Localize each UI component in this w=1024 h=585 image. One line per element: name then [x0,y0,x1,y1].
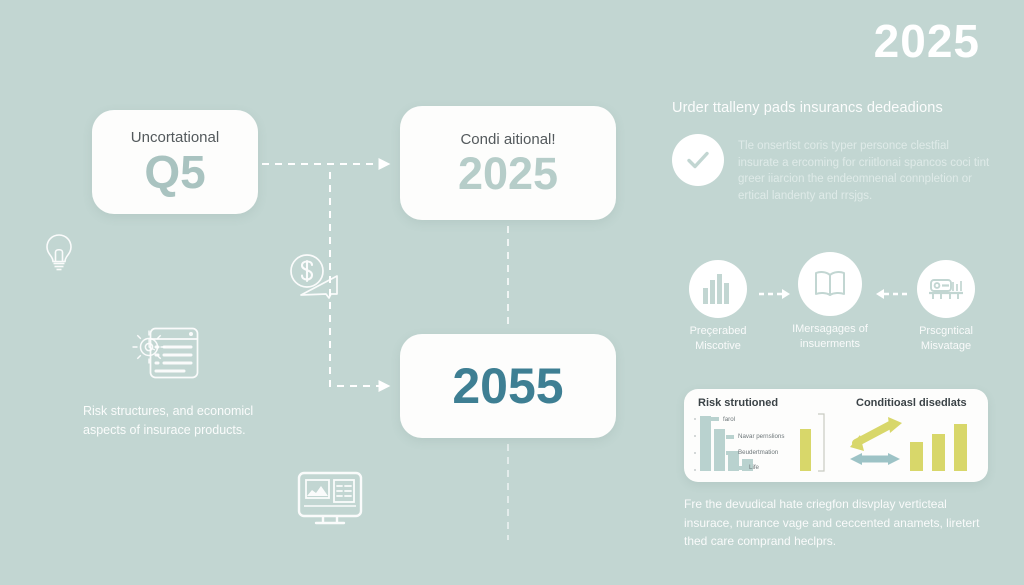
lightbulb-icon [42,232,76,279]
chart-caption: Fre the devudical hate criegfon disvplay… [684,495,994,551]
right-panel-heading: Urder ttalleny pads insurancs dedeadions [672,100,992,116]
open-book-icon [813,269,847,299]
right-panel-body: Tle onsertist coris typer personce clest… [738,134,992,205]
right-panel: Urder ttalleny pads insurancs dedeadions… [672,100,992,205]
chart-card[interactable]: Risk strutioned Conditioasl disedlats [684,389,988,482]
left-caption: Risk structures, and economicl aspects o… [83,402,298,441]
chart-arrow-teal [850,453,900,465]
badge-preçerabed[interactable]: Preçerabed Miscotive [672,260,764,354]
year-title: 2025 [874,18,980,64]
badge-imersagages[interactable]: IMersagages of insuerments [784,252,876,352]
chart-graphics [684,389,988,482]
badge-row: Preçerabed Miscotive IMersagages of insu… [672,252,992,372]
card-value: 2025 [458,151,558,196]
check-row: Tle onsertist coris typer personce clest… [672,134,992,205]
checkmark-badge [672,134,724,186]
money-bag-icon [285,252,345,313]
train-building-icon [928,276,964,302]
badge-label: Prscgntical Misvatage [900,324,992,354]
checkmark-icon [683,145,713,175]
card-uncortational[interactable]: Uncortational Q5 [92,110,258,214]
card-conditional[interactable]: Condi aitional! 2025 [400,106,616,220]
open-book-badge [798,252,862,316]
card-value: Q5 [144,149,205,195]
badge-prscgntical[interactable]: Prscgntical Misvatage [900,260,992,354]
card-value: 2055 [452,361,563,411]
chart-legend-item: farol [723,416,735,423]
badge-label: IMersagages of insuerments [784,322,876,352]
chart-legend-item: Navar pernslions [738,433,784,440]
chart-center-bar [800,414,824,471]
document-list-icon [148,326,200,385]
chart-left-axis-ticks [694,419,696,470]
card-label: Condi aitional! [460,131,555,149]
train-building-badge [917,260,975,318]
chart-legend-item: Life [749,464,759,471]
chart-left-bars [700,416,753,471]
bar-chart-icon [701,274,735,304]
chart-right-bars [910,424,967,471]
chart-arrow-yellow [850,417,902,451]
infographic-stage: 2025 Uncortational Q5 Condi aitional! 20… [0,0,1024,585]
card-label: Uncortational [131,129,219,147]
badge-label: Preçerabed Miscotive [672,324,764,354]
bar-chart-badge [689,260,747,318]
chart-legend-item: Beudertmation [738,449,778,456]
card-year-2055[interactable]: 2055 [400,334,616,438]
monitor-dashboard-icon [296,470,364,533]
